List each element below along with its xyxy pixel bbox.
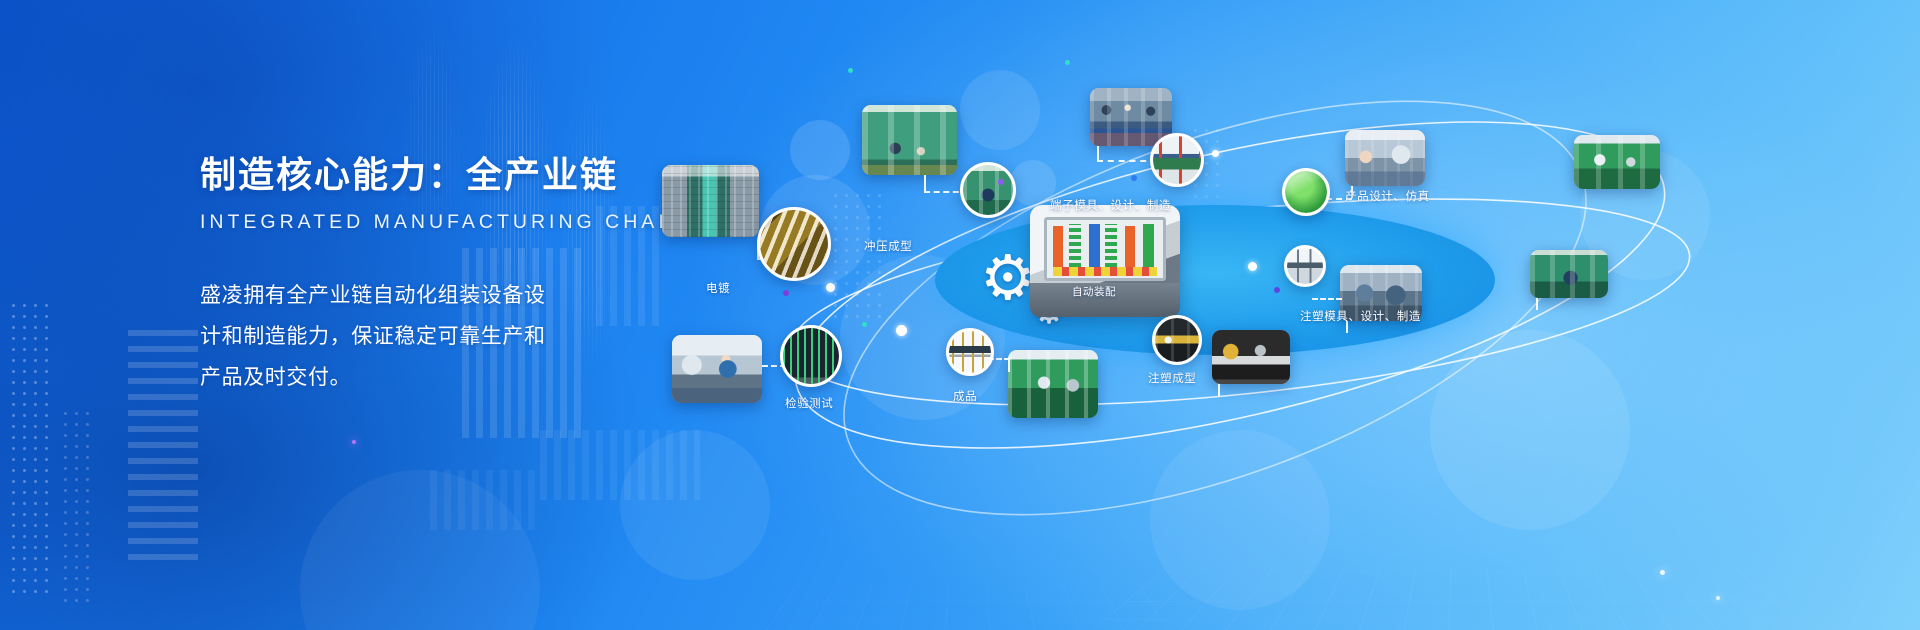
node-image-plating[interactable] (662, 165, 759, 237)
speck-dot (1065, 60, 1070, 65)
node-badge-green-jig[interactable] (1150, 133, 1204, 187)
speck-dot (998, 179, 1004, 185)
speck-dot (848, 68, 853, 73)
node-badge-yellow-machine[interactable] (1152, 315, 1202, 365)
gear-icon: ⚙ (980, 248, 1036, 310)
connector-tick (1218, 384, 1220, 396)
orbit-waypoint-dot (896, 325, 907, 336)
automated-assembly-mold (1030, 205, 1180, 317)
node-badge-test-rack[interactable] (780, 325, 842, 387)
node-label-product-design: 产品设计、仿真 (1345, 188, 1430, 204)
manufacturing-chain-diagram: ⚙ ⚙ ⚙ 自动装配 电镀 (640, 40, 1900, 600)
node-label-injection-form: 注塑成型 (1148, 370, 1196, 386)
node-image-injection-form[interactable] (1212, 330, 1290, 384)
connector-tick (1097, 146, 1099, 160)
hero-banner: 制造核心能力：全产业链 INTEGRATED MANUFACTURING CHA… (0, 0, 1920, 630)
speck-dot (862, 322, 867, 327)
node-image-assembly[interactable] (1574, 135, 1660, 189)
node-badge-product[interactable] (946, 328, 994, 376)
square-grid-mid (430, 470, 540, 530)
node-badge-jig[interactable] (1284, 245, 1326, 287)
bokeh-circle (300, 470, 540, 630)
speck-dot (1131, 175, 1137, 181)
connector-tick (1536, 298, 1538, 310)
orbit-waypoint-dot (826, 283, 835, 292)
dot-pattern-left (8, 300, 54, 600)
node-image-stamping[interactable] (862, 105, 957, 175)
node-label-injection-mold: 注塑模具、设计、制造 (1300, 308, 1421, 324)
dot-pattern-left (60, 408, 94, 608)
center-label: 自动装配 (1072, 284, 1116, 299)
node-image-injection-green[interactable] (1530, 250, 1608, 298)
node-image-product-design[interactable] (1345, 130, 1425, 186)
node-image-inspection[interactable] (672, 335, 762, 403)
orbit-waypoint-dot (1212, 150, 1219, 157)
node-label-plating: 电镀 (706, 280, 730, 296)
connector-tick (1008, 358, 1010, 372)
node-badge-green-machine[interactable] (960, 162, 1016, 218)
connector-line (1097, 160, 1157, 162)
node-label-finished-goods: 成品 (953, 388, 977, 404)
square-pattern-left (128, 330, 198, 560)
speck-dot (783, 290, 789, 296)
node-label-stamping: 冲压成型 (864, 238, 912, 254)
node-label-terminal-mold: 端子模具、设计、制造 (1050, 197, 1171, 213)
connector-tick (924, 175, 926, 191)
speck-dot (1274, 287, 1280, 293)
node-image-conveyor[interactable] (1008, 350, 1098, 418)
sparkle-dot (352, 440, 356, 444)
node-badge-brush[interactable] (757, 207, 831, 281)
connector-line (1312, 298, 1342, 300)
orbit-waypoint-dot (1248, 262, 1257, 271)
node-label-inspection-test: 检验测试 (785, 395, 833, 411)
hero-description: 盛凌拥有全产业链自动化组装设备设计和制造能力，保证稳定可靠生产和产品及时交付。 (200, 275, 560, 398)
node-badge-green-box[interactable] (1282, 168, 1330, 216)
